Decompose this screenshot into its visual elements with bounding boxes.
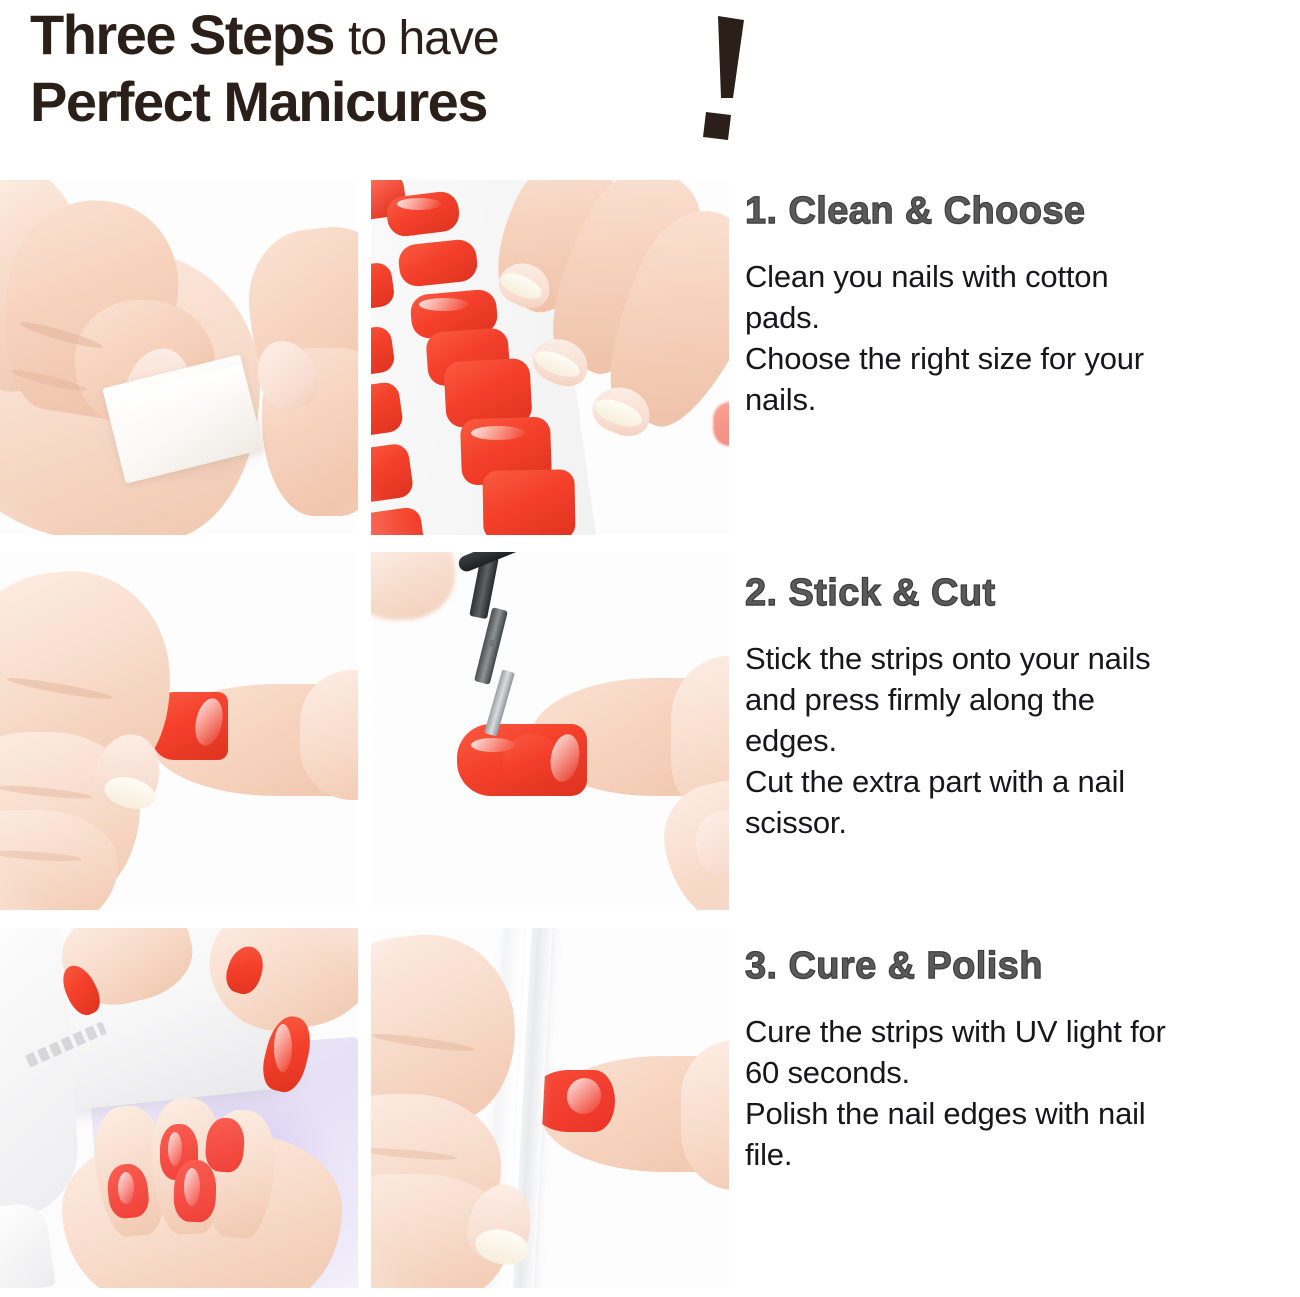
step-2-line-2: and press firmly along the: [745, 680, 1290, 721]
title-regular-1: to have: [348, 12, 498, 65]
step-1-line-4: nails.: [745, 380, 1290, 421]
photo-uv-lamp-curing: [0, 928, 358, 1288]
title-bold-2: Perfect Manicures: [30, 70, 487, 133]
step-3-line-3: Polish the nail edges with nail: [745, 1094, 1290, 1135]
step-3-line-4: file.: [745, 1135, 1290, 1176]
step-1-line-1: Clean you nails with cotton: [745, 257, 1290, 298]
title-bold-1: Three Steps: [30, 3, 334, 66]
page-title: Three Steps to have Perfect Manicures: [30, 6, 790, 156]
step-1-heading: 1. Clean & Choose: [745, 190, 1290, 233]
title-line-2: Perfect Manicures: [30, 75, 790, 130]
step-2-line-4: Cut the extra part with a nail: [745, 762, 1290, 803]
step-2-heading: 2. Stick & Cut: [745, 572, 1290, 615]
photo-cutting-strip: [371, 552, 729, 910]
title-line-1: Three Steps to have: [30, 8, 790, 63]
step-1-body: Clean you nails with cotton pads. Choose…: [745, 257, 1290, 421]
instruction-photo-grid: [0, 180, 732, 1290]
step-3-body: Cure the strips with UV light for 60 sec…: [745, 1012, 1290, 1176]
step-1-line-3: Choose the right size for your: [745, 339, 1290, 380]
step-3: 3. Cure & Polish Cure the strips with UV…: [745, 945, 1290, 1176]
photo-nail-strip-sheet: [371, 180, 729, 535]
photo-nail-file-polish: [371, 928, 729, 1288]
step-2-line-3: edges.: [745, 721, 1290, 762]
step-1-line-2: pads.: [745, 298, 1290, 339]
step-2-body: Stick the strips onto your nails and pre…: [745, 639, 1290, 844]
step-3-line-1: Cure the strips with UV light for: [745, 1012, 1290, 1053]
step-2-line-1: Stick the strips onto your nails: [745, 639, 1290, 680]
exclamation-mark-icon: [700, 14, 760, 140]
step-1: 1. Clean & Choose Clean you nails with c…: [745, 190, 1290, 421]
photo-cotton-pad-wipe: [0, 180, 358, 535]
step-3-line-2: 60 seconds.: [745, 1053, 1290, 1094]
step-2: 2. Stick & Cut Stick the strips onto you…: [745, 572, 1290, 844]
step-2-line-5: scissor.: [745, 803, 1290, 844]
photo-applying-strip: [0, 552, 358, 910]
step-3-heading: 3. Cure & Polish: [745, 945, 1290, 988]
